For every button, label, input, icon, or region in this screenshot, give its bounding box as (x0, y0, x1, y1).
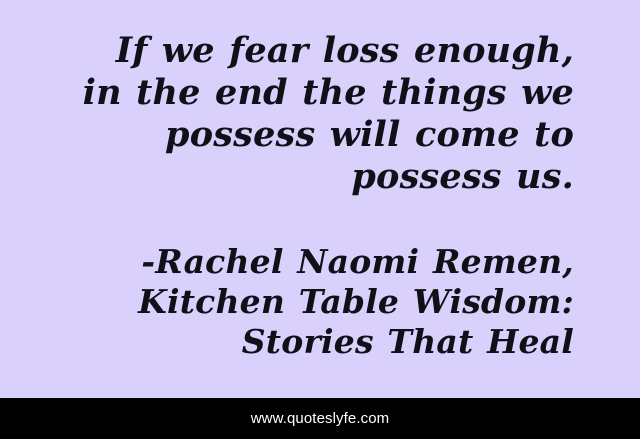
quote-line: possess will come to (40, 114, 574, 156)
quote-line: possess us. (40, 156, 574, 198)
site-footer: www.quoteslyfe.com (0, 398, 640, 439)
quote-line: in the end the things we (40, 72, 574, 114)
attribution-line-source-title: Kitchen Table Wisdom: (40, 282, 574, 322)
quote-text: If we fear loss enough, in the end the t… (40, 30, 574, 198)
attribution-line-source-subtitle: Stories That Heal (40, 322, 574, 362)
attribution-line-author: -Rachel Naomi Remen, (40, 242, 574, 282)
footer-url-label[interactable]: www.quoteslyfe.com (251, 411, 390, 426)
quote-attribution: -Rachel Naomi Remen, Kitchen Table Wisdo… (40, 198, 574, 362)
quote-card: If we fear loss enough, in the end the t… (0, 0, 640, 439)
quote-line: If we fear loss enough, (40, 30, 574, 72)
quote-card-body: If we fear loss enough, in the end the t… (0, 0, 640, 398)
